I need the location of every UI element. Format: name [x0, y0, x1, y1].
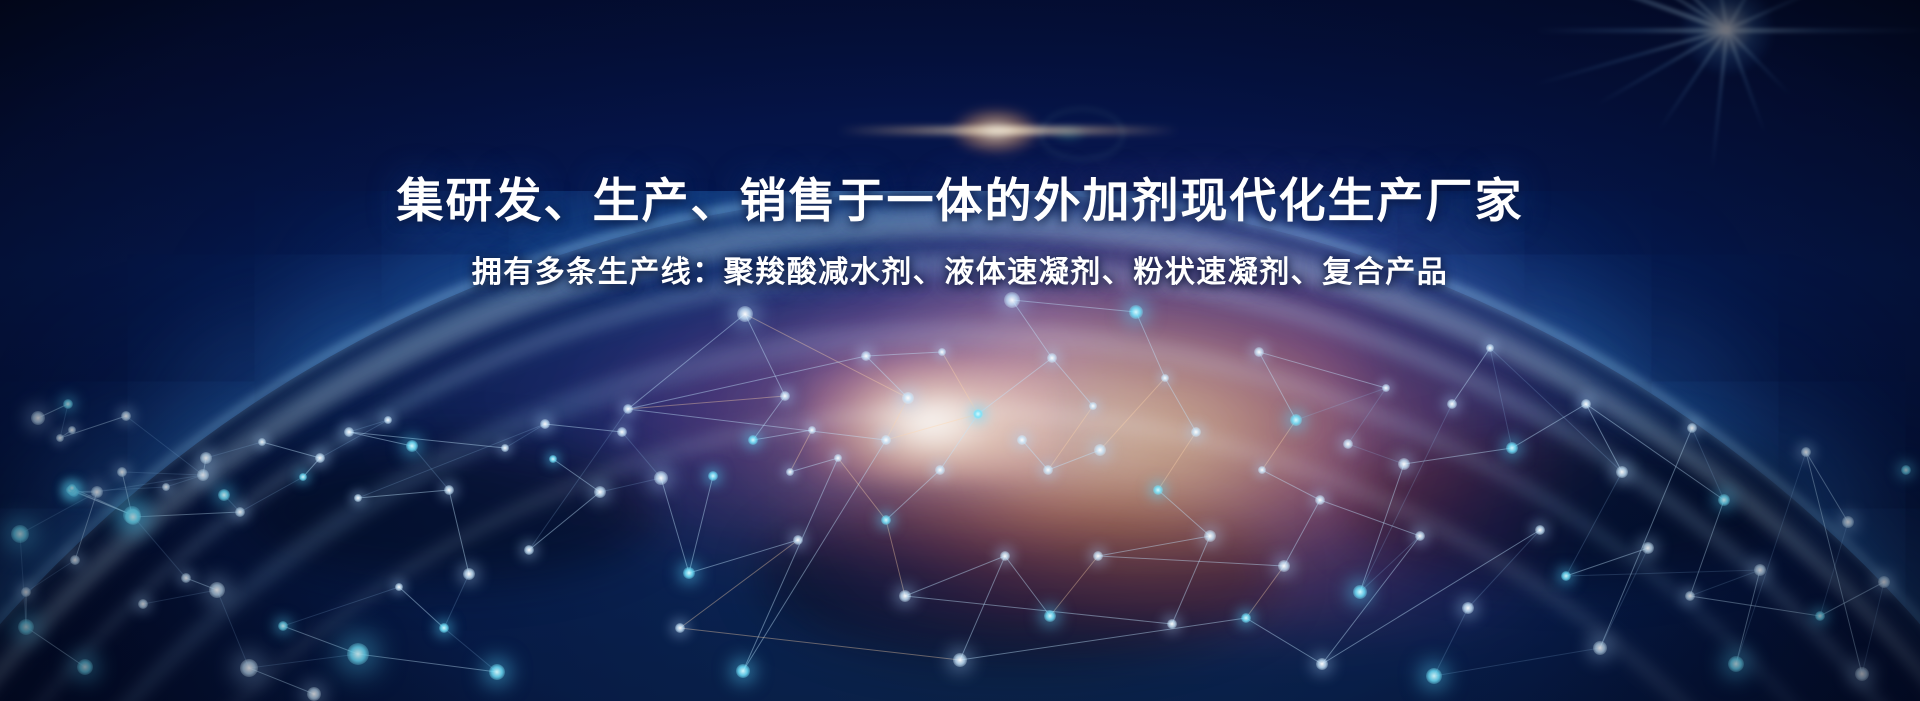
atmosphere-rim [0, 191, 1920, 701]
hero-banner: 集研发、生产、销售于一体的外加剂现代化生产厂家 拥有多条生产线：聚羧酸减水剂、液… [0, 0, 1920, 701]
earth-globe [0, 191, 1920, 701]
